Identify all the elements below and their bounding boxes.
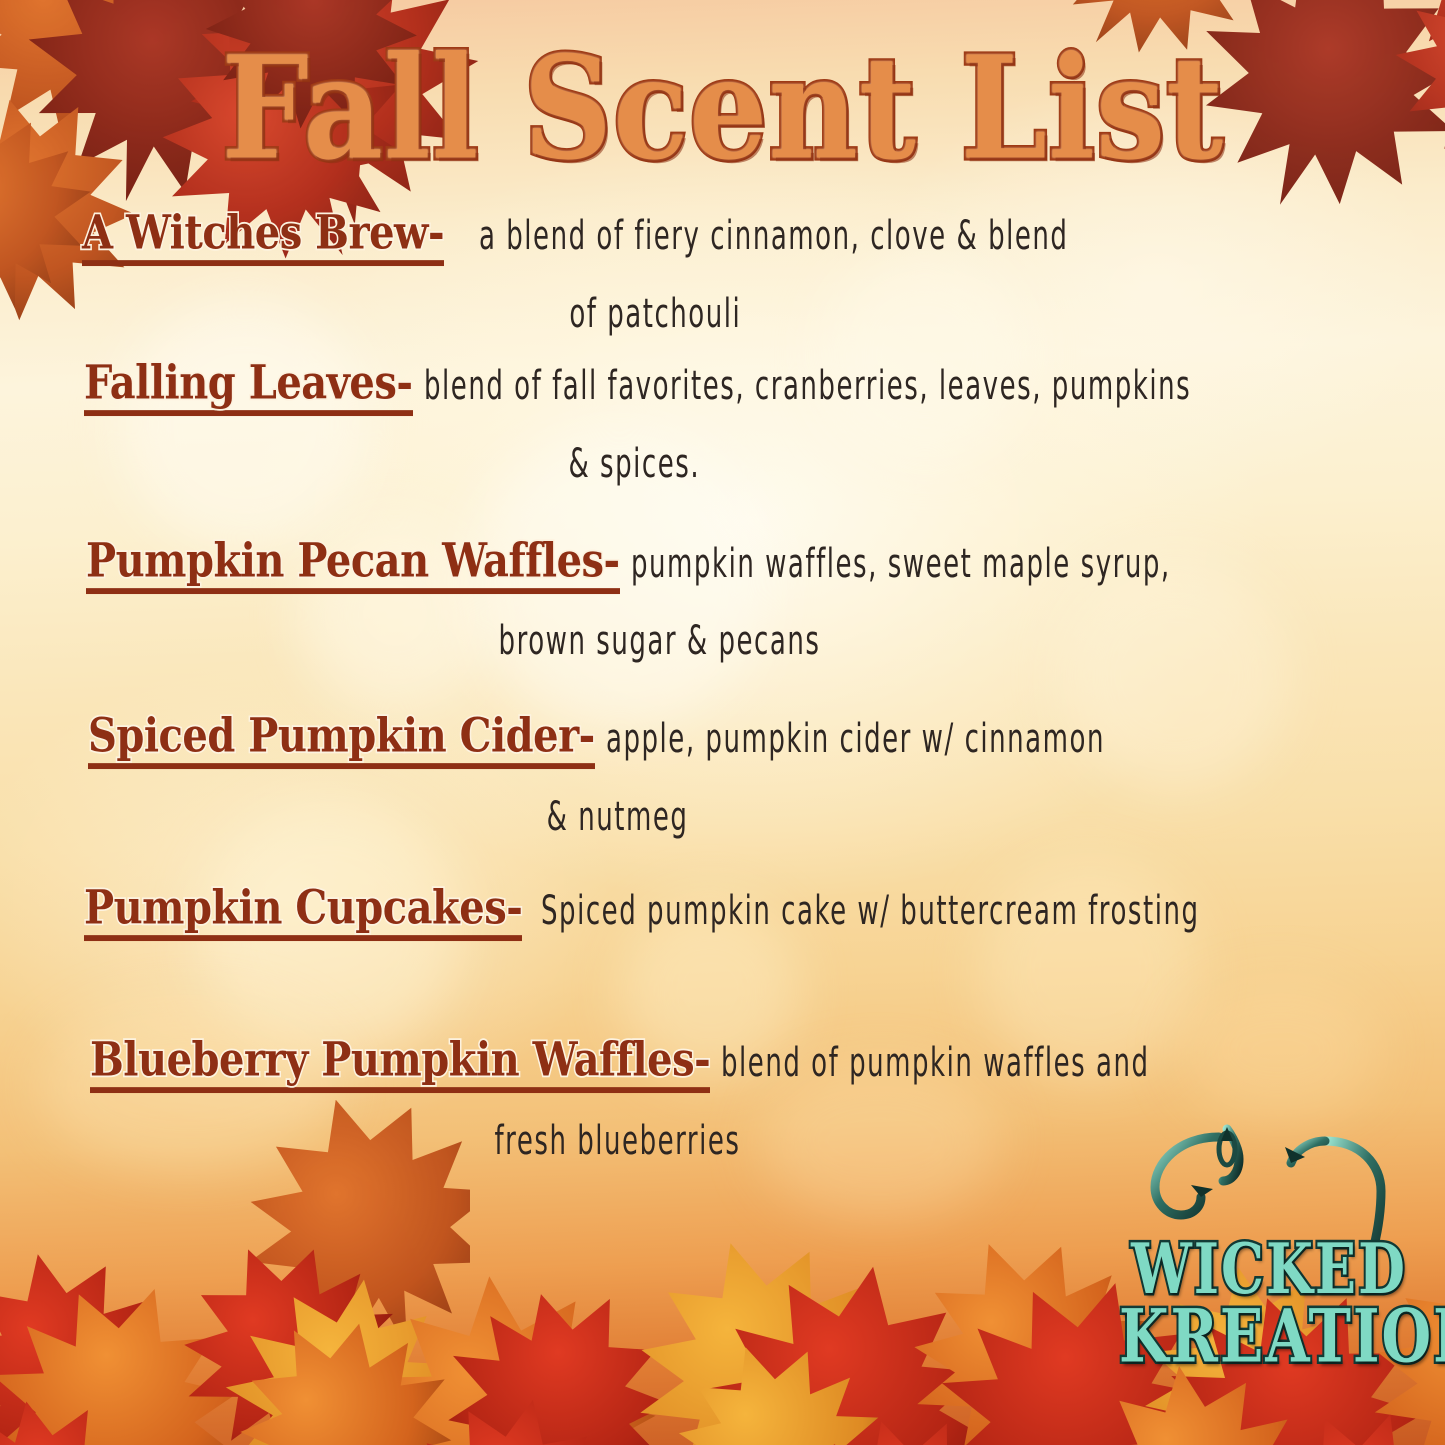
scent-list: A Witches Brew- a blend of fiery cinnamo… xyxy=(0,218,1445,1159)
scent-name: Spiced Pumpkin Cider- xyxy=(88,713,595,769)
scent-name: Falling Leaves- xyxy=(84,359,413,415)
logo-word-kreations: KREATIONS xyxy=(1119,1302,1419,1374)
list-item: Falling Leaves- blend of fall favorites,… xyxy=(40,368,1405,482)
scent-description-line: apple, pumpkin cider w/ cinnamon xyxy=(606,720,1105,761)
brand-logo[interactable]: WICKED KREATIONS xyxy=(1119,1119,1419,1379)
list-item: Pumpkin Pecan Waffles- pumpkin waffles, … xyxy=(40,546,1405,660)
scent-name: Pumpkin Pecan Waffles- xyxy=(86,537,620,593)
title-area: Fall Scent List xyxy=(0,38,1445,154)
scent-description-line: of patchouli xyxy=(149,290,1296,337)
scent-description-line: & spices. xyxy=(149,440,1296,487)
scent-name: Blueberry Pumpkin Waffles- xyxy=(90,1036,710,1092)
scent-description-line: Spiced pumpkin cake w/ buttercream frost… xyxy=(541,892,1200,933)
page-title: Fall Scent List xyxy=(221,38,1223,180)
scent-description-line: blend of fall favorites, cranberries, le… xyxy=(424,366,1191,407)
scent-name: Pumpkin Cupcakes- xyxy=(84,885,522,941)
scent-description-line: a blend of fiery cinnamon, clove & blend xyxy=(479,217,1068,258)
scent-description-line: brown sugar & pecans xyxy=(149,618,1296,665)
list-item: Spiced Pumpkin Cider- apple, pumpkin cid… xyxy=(40,721,1405,835)
scent-name: A Witches Brew- xyxy=(82,209,444,265)
fall-scent-list-poster: Fall Scent List A Witches Brew- a blend … xyxy=(0,0,1445,1445)
list-item: Pumpkin Cupcakes- Spiced pumpkin cake w/… xyxy=(40,893,1405,941)
logo-wordmark: WICKED KREATIONS xyxy=(1119,1250,1419,1373)
list-item: A Witches Brew- a blend of fiery cinnamo… xyxy=(40,218,1405,332)
scent-description-line: blend of pumpkin waffles and xyxy=(721,1044,1150,1085)
scent-description-line: & nutmeg xyxy=(149,794,1296,841)
scent-description-line: pumpkin waffles, sweet maple syrup, xyxy=(631,544,1171,585)
